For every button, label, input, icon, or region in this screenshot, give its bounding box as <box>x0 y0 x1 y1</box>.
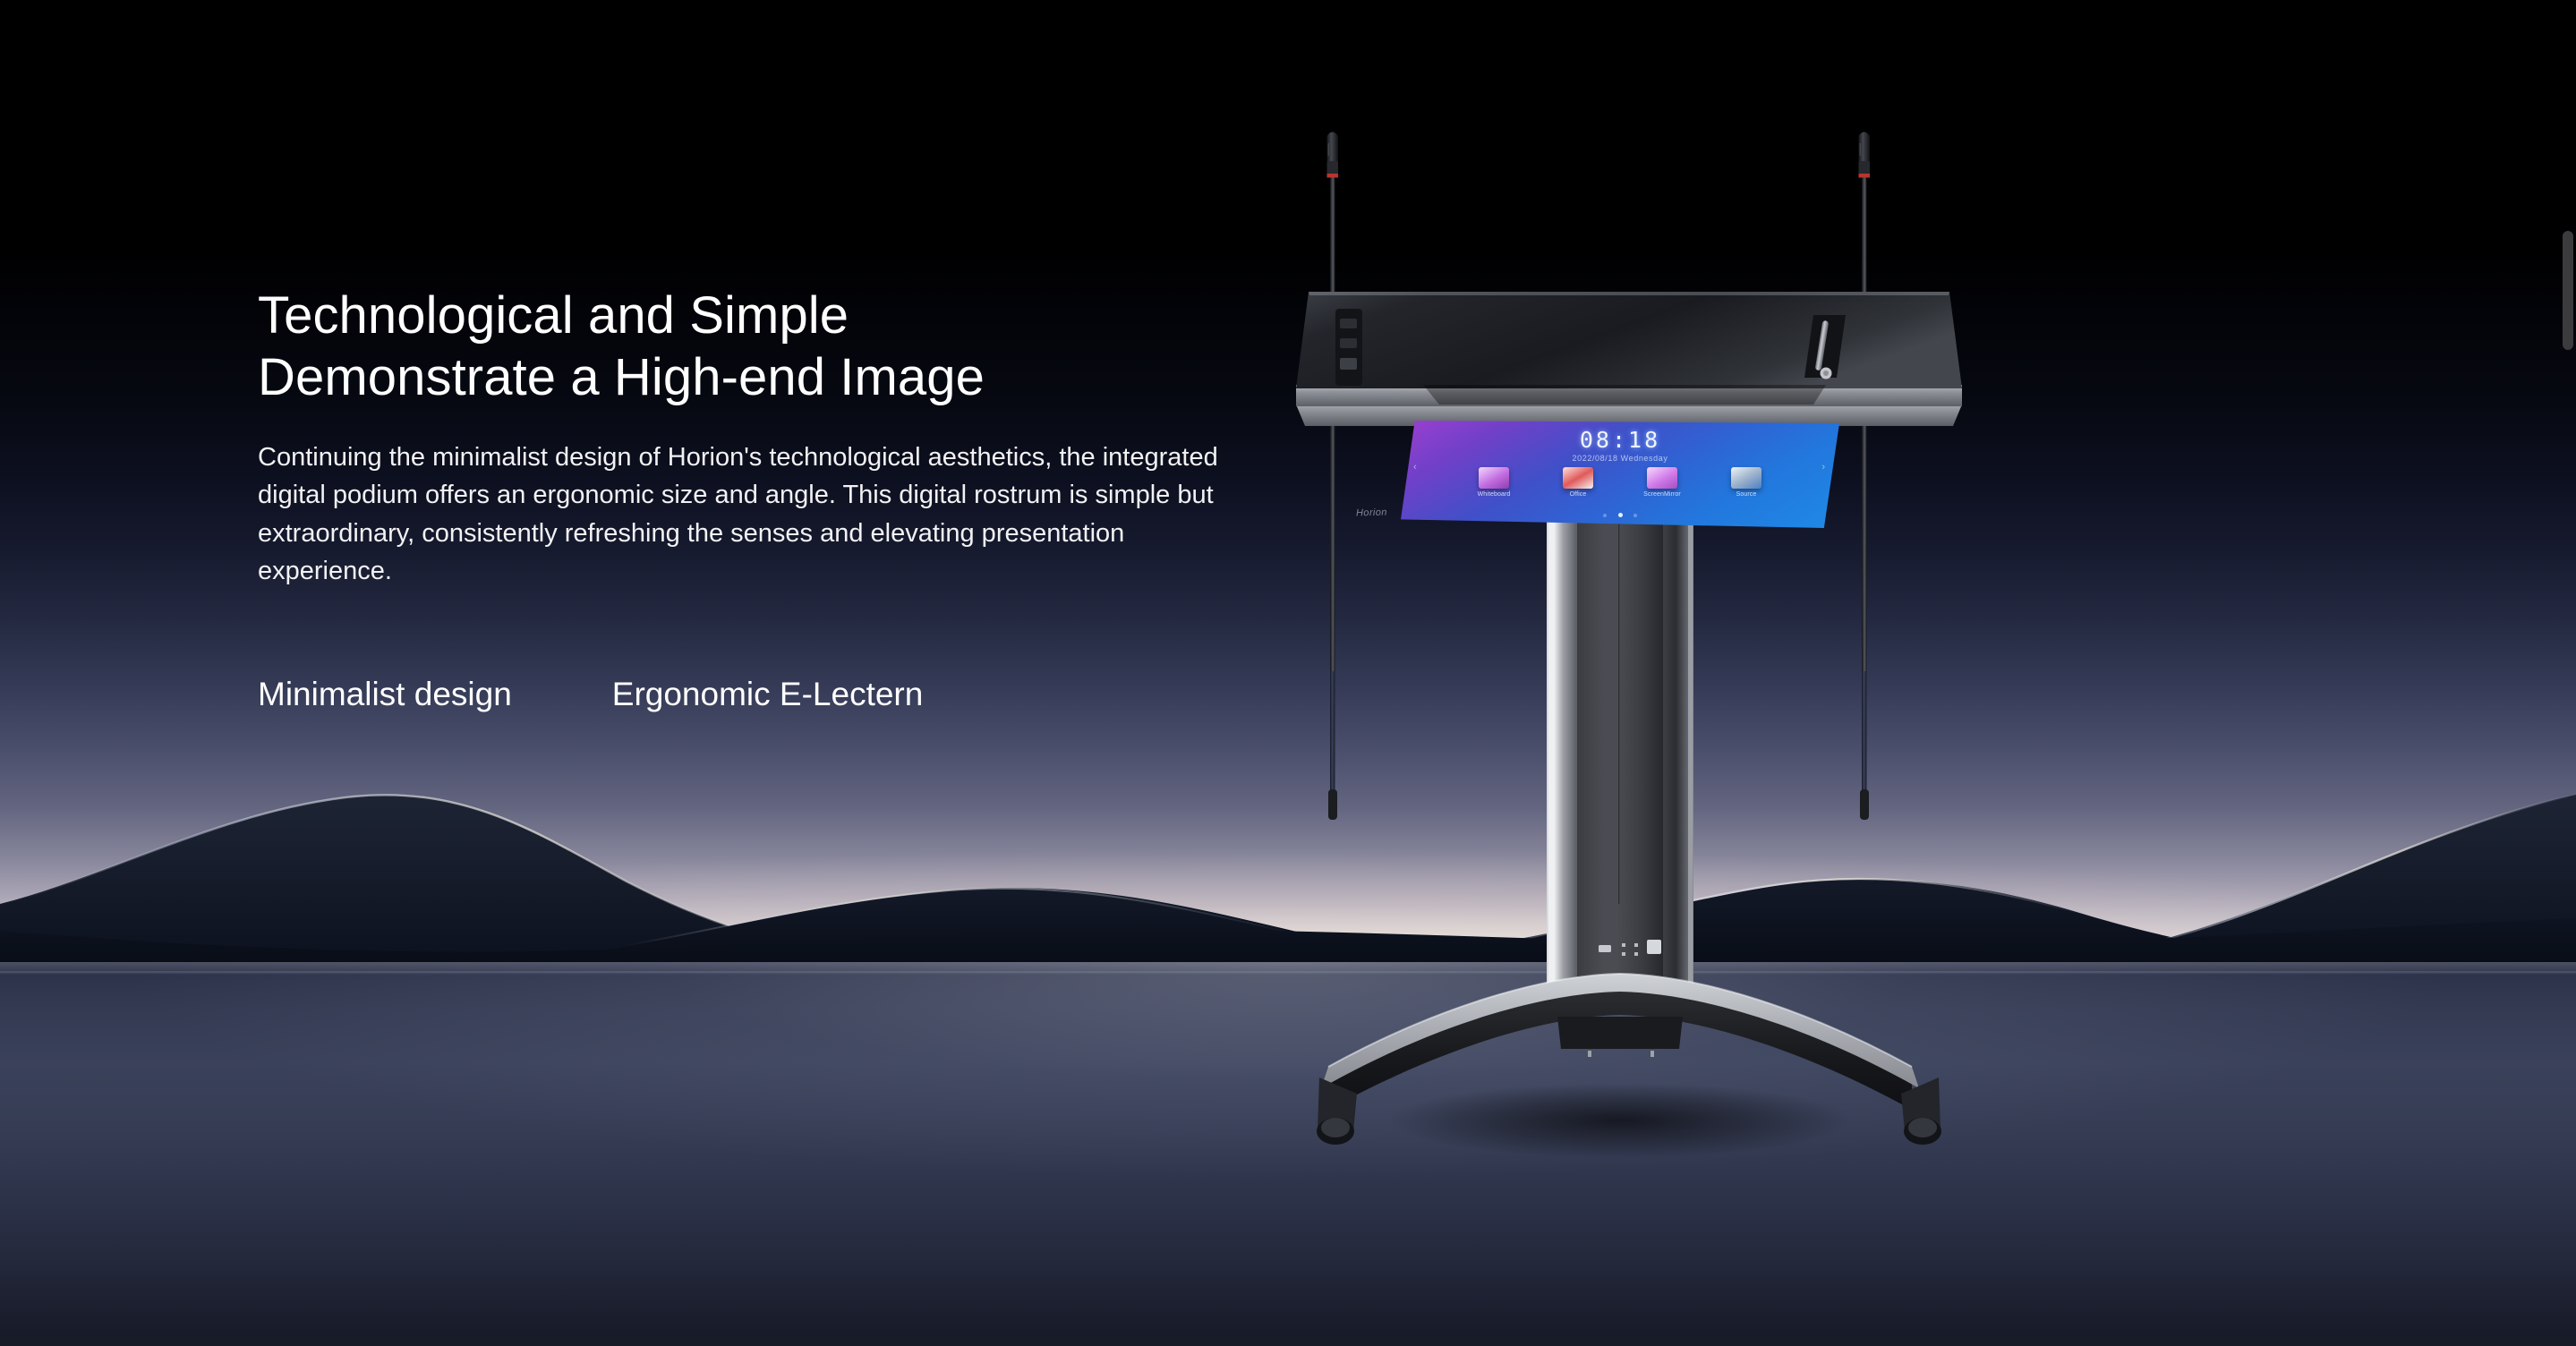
page-title: Technological and Simple Demonstrate a H… <box>258 285 1287 408</box>
feature-label-minimalist-design: Minimalist design <box>258 676 512 713</box>
deck-button-2 <box>1340 338 1357 348</box>
hero-description: Continuing the minimalist design of Hori… <box>258 439 1256 590</box>
lectern-deck <box>1296 292 1962 426</box>
deck-button-1 <box>1340 319 1357 328</box>
page-scrollbar[interactable] <box>2560 0 2576 1346</box>
hero-section: Technological and Simple Demonstrate a H… <box>0 0 2576 1346</box>
feature-label-row: Minimalist design Ergonomic E-Lectern <box>258 676 1287 713</box>
hero-copy: Technological and Simple Demonstrate a H… <box>258 285 1287 713</box>
microphone-right <box>1859 132 1871 821</box>
deck-button-3 <box>1340 358 1357 370</box>
lectern-column <box>1523 426 1717 1013</box>
microphone-left <box>1327 132 1339 821</box>
feature-label-ergonomic-e-lectern: Ergonomic E-Lectern <box>612 676 924 713</box>
scrollbar-thumb[interactable] <box>2563 231 2573 350</box>
product-image-e-lectern <box>1289 116 1969 1280</box>
